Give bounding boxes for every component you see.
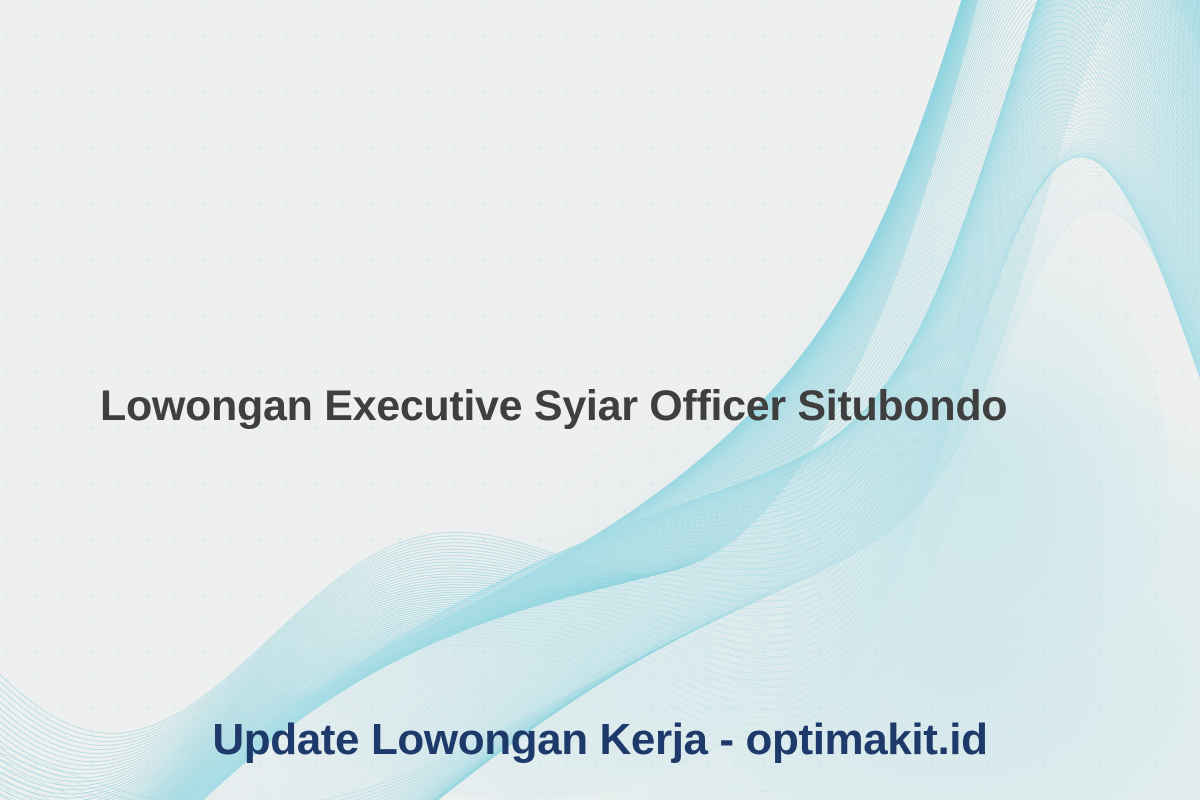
site-tagline: Update Lowongan Kerja - optimakit.id [0, 712, 1200, 768]
text-layer: Lowongan Executive Syiar Officer Situbon… [0, 0, 1200, 800]
page-title: Lowongan Executive Syiar Officer Situbon… [100, 378, 1120, 434]
featured-image-banner: Lowongan Executive Syiar Officer Situbon… [0, 0, 1200, 800]
